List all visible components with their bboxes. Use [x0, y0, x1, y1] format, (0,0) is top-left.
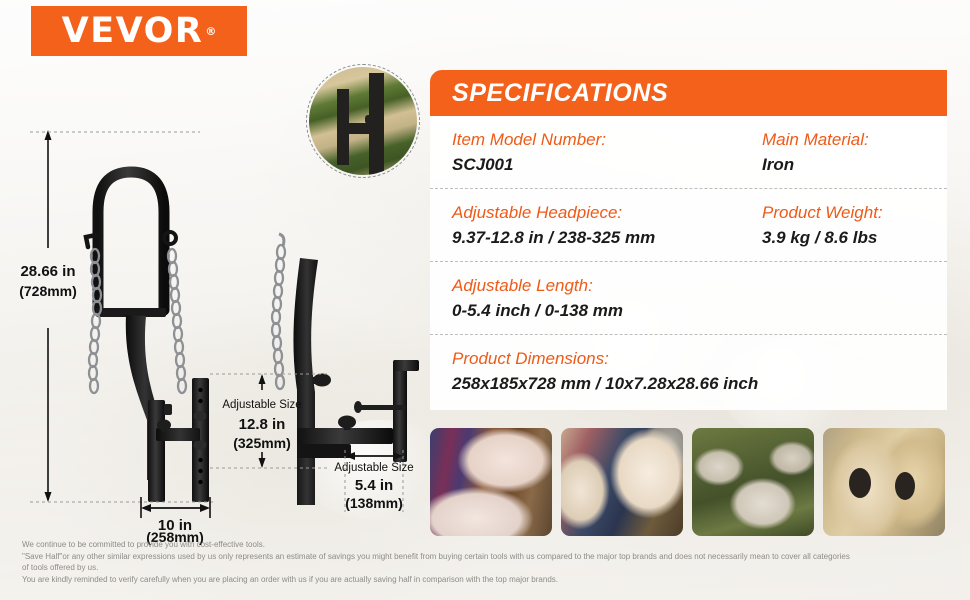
- feeding-sheep-photo: [561, 428, 683, 536]
- spec-label: Main Material:: [762, 129, 942, 152]
- specifications-title: SPECIFICATIONS: [452, 79, 668, 108]
- spec-cell-product-dimensions: Product Dimensions: 258x185x728 mm / 10x…: [452, 348, 932, 396]
- two-sheep-portrait-photo: [823, 428, 945, 536]
- inset-bracket-crossbar: [342, 123, 380, 134]
- photo-gallery: [430, 428, 947, 536]
- spec-value: 0-5.4 inch / 0-138 mm: [452, 300, 932, 323]
- height-dimension-metric: (728mm): [19, 283, 77, 299]
- spec-row: Adjustable Length: 0-5.4 inch / 0-138 mm: [430, 262, 947, 335]
- registered-trademark-icon: ®: [205, 25, 216, 38]
- spec-label: Item Model Number:: [452, 129, 762, 152]
- product-spec-banner: VEVOR®: [0, 0, 970, 600]
- vevor-logo: VEVOR®: [31, 6, 247, 56]
- adjustable-length-caption: Adjustable Size: [334, 462, 413, 474]
- specifications-header: SPECIFICATIONS: [430, 70, 947, 116]
- detail-inset-photo: [306, 64, 420, 178]
- disclaimer-line-2: "Save Half"or any other similar expressi…: [22, 551, 952, 563]
- disclaimer-text: We continue to be committed to provide y…: [22, 539, 952, 585]
- adjustable-size-caption: Adjustable Size: [222, 399, 301, 411]
- spec-cell-main-material: Main Material: Iron: [762, 129, 942, 177]
- specifications-body: Item Model Number: SCJ001 Main Material:…: [430, 116, 947, 407]
- adjustable-length-metric: (138mm): [345, 495, 403, 511]
- adjustable-height-metric: (325mm): [233, 435, 291, 451]
- spec-value: Iron: [762, 154, 942, 177]
- disclaimer-line-1: We continue to be committed to provide y…: [22, 539, 952, 551]
- sheep-face-shape: [849, 468, 871, 498]
- height-dimension-value: 28.66 in: [20, 263, 75, 280]
- grazing-flock-photo: [692, 428, 814, 536]
- spec-row: Item Model Number: SCJ001 Main Material:…: [430, 116, 947, 189]
- spec-row: Adjustable Headpiece: 9.37-12.8 in / 238…: [430, 189, 947, 262]
- specifications-panel: SPECIFICATIONS Item Model Number: SCJ001…: [430, 70, 947, 410]
- spec-label: Product Weight:: [762, 202, 942, 225]
- adjustable-length-value: 5.4 in: [355, 477, 393, 494]
- spec-value: SCJ001: [452, 154, 762, 177]
- spec-label: Adjustable Length:: [452, 275, 932, 298]
- width-dimension-value: 10 in: [158, 517, 192, 530]
- disclaimer-line-4: You are kindly reminded to verify carefu…: [22, 574, 952, 586]
- inset-bracket-knob: [365, 115, 377, 124]
- detail-inset-image: [309, 67, 417, 175]
- vevor-logo-text: VEVOR: [62, 14, 204, 49]
- spec-label: Product Dimensions:: [452, 348, 932, 371]
- spec-cell-adjustable-length: Adjustable Length: 0-5.4 inch / 0-138 mm: [452, 275, 932, 323]
- disclaimer-line-3: of tools offered by us.: [22, 562, 952, 574]
- spec-label: Adjustable Headpiece:: [452, 202, 762, 225]
- spec-row: Product Dimensions: 258x185x728 mm / 10x…: [430, 335, 947, 407]
- adjustable-height-value: 12.8 in: [239, 416, 286, 433]
- spec-cell-product-weight: Product Weight: 3.9 kg / 8.6 lbs: [762, 202, 942, 250]
- spec-value: 3.9 kg / 8.6 lbs: [762, 227, 942, 250]
- spec-cell-model-number: Item Model Number: SCJ001: [452, 129, 762, 177]
- spec-value: 9.37-12.8 in / 238-325 mm: [452, 227, 762, 250]
- spec-value: 258x185x728 mm / 10x7.28x28.66 inch: [452, 373, 932, 396]
- spec-cell-adjustable-headpiece: Adjustable Headpiece: 9.37-12.8 in / 238…: [452, 202, 762, 250]
- handler-with-lamb-photo: [430, 428, 552, 536]
- sheep-face-shape: [895, 472, 915, 500]
